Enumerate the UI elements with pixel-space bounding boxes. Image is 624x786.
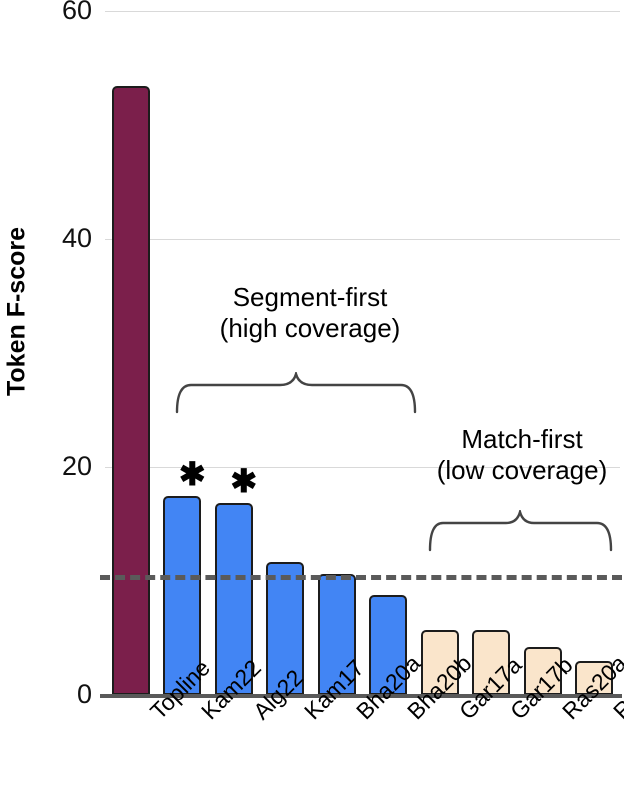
y-tick-label: 60 [22, 0, 92, 24]
y-axis-title: Token F-score [3, 212, 32, 412]
significance-star-alg22: ✱ [229, 465, 259, 497]
annotation-match-first: Match-first (low coverage) [420, 424, 624, 485]
y-tick-label: 40 [22, 225, 92, 252]
annotation-match-first-line2: (low coverage) [420, 455, 624, 486]
chart-figure: 0204060 Token F-score ToplineKam22Alg22K… [0, 0, 624, 786]
brace-segment-first [172, 372, 420, 414]
annotation-segment-first-line2: (high coverage) [188, 313, 432, 344]
threshold-dashed-line [100, 575, 622, 580]
plot-area [105, 11, 620, 695]
bar-topline[interactable] [112, 86, 150, 695]
gridline [105, 11, 620, 12]
gridline [105, 239, 620, 240]
annotation-segment-first: Segment-first (high coverage) [188, 282, 432, 343]
y-tick-label: 0 [22, 681, 92, 708]
y-tick-label: 20 [22, 453, 92, 480]
annotation-segment-first-line1: Segment-first [188, 282, 432, 313]
brace-match-first [426, 510, 616, 552]
significance-star-kam22: ✱ [177, 458, 207, 490]
annotation-match-first-line1: Match-first [420, 424, 624, 455]
